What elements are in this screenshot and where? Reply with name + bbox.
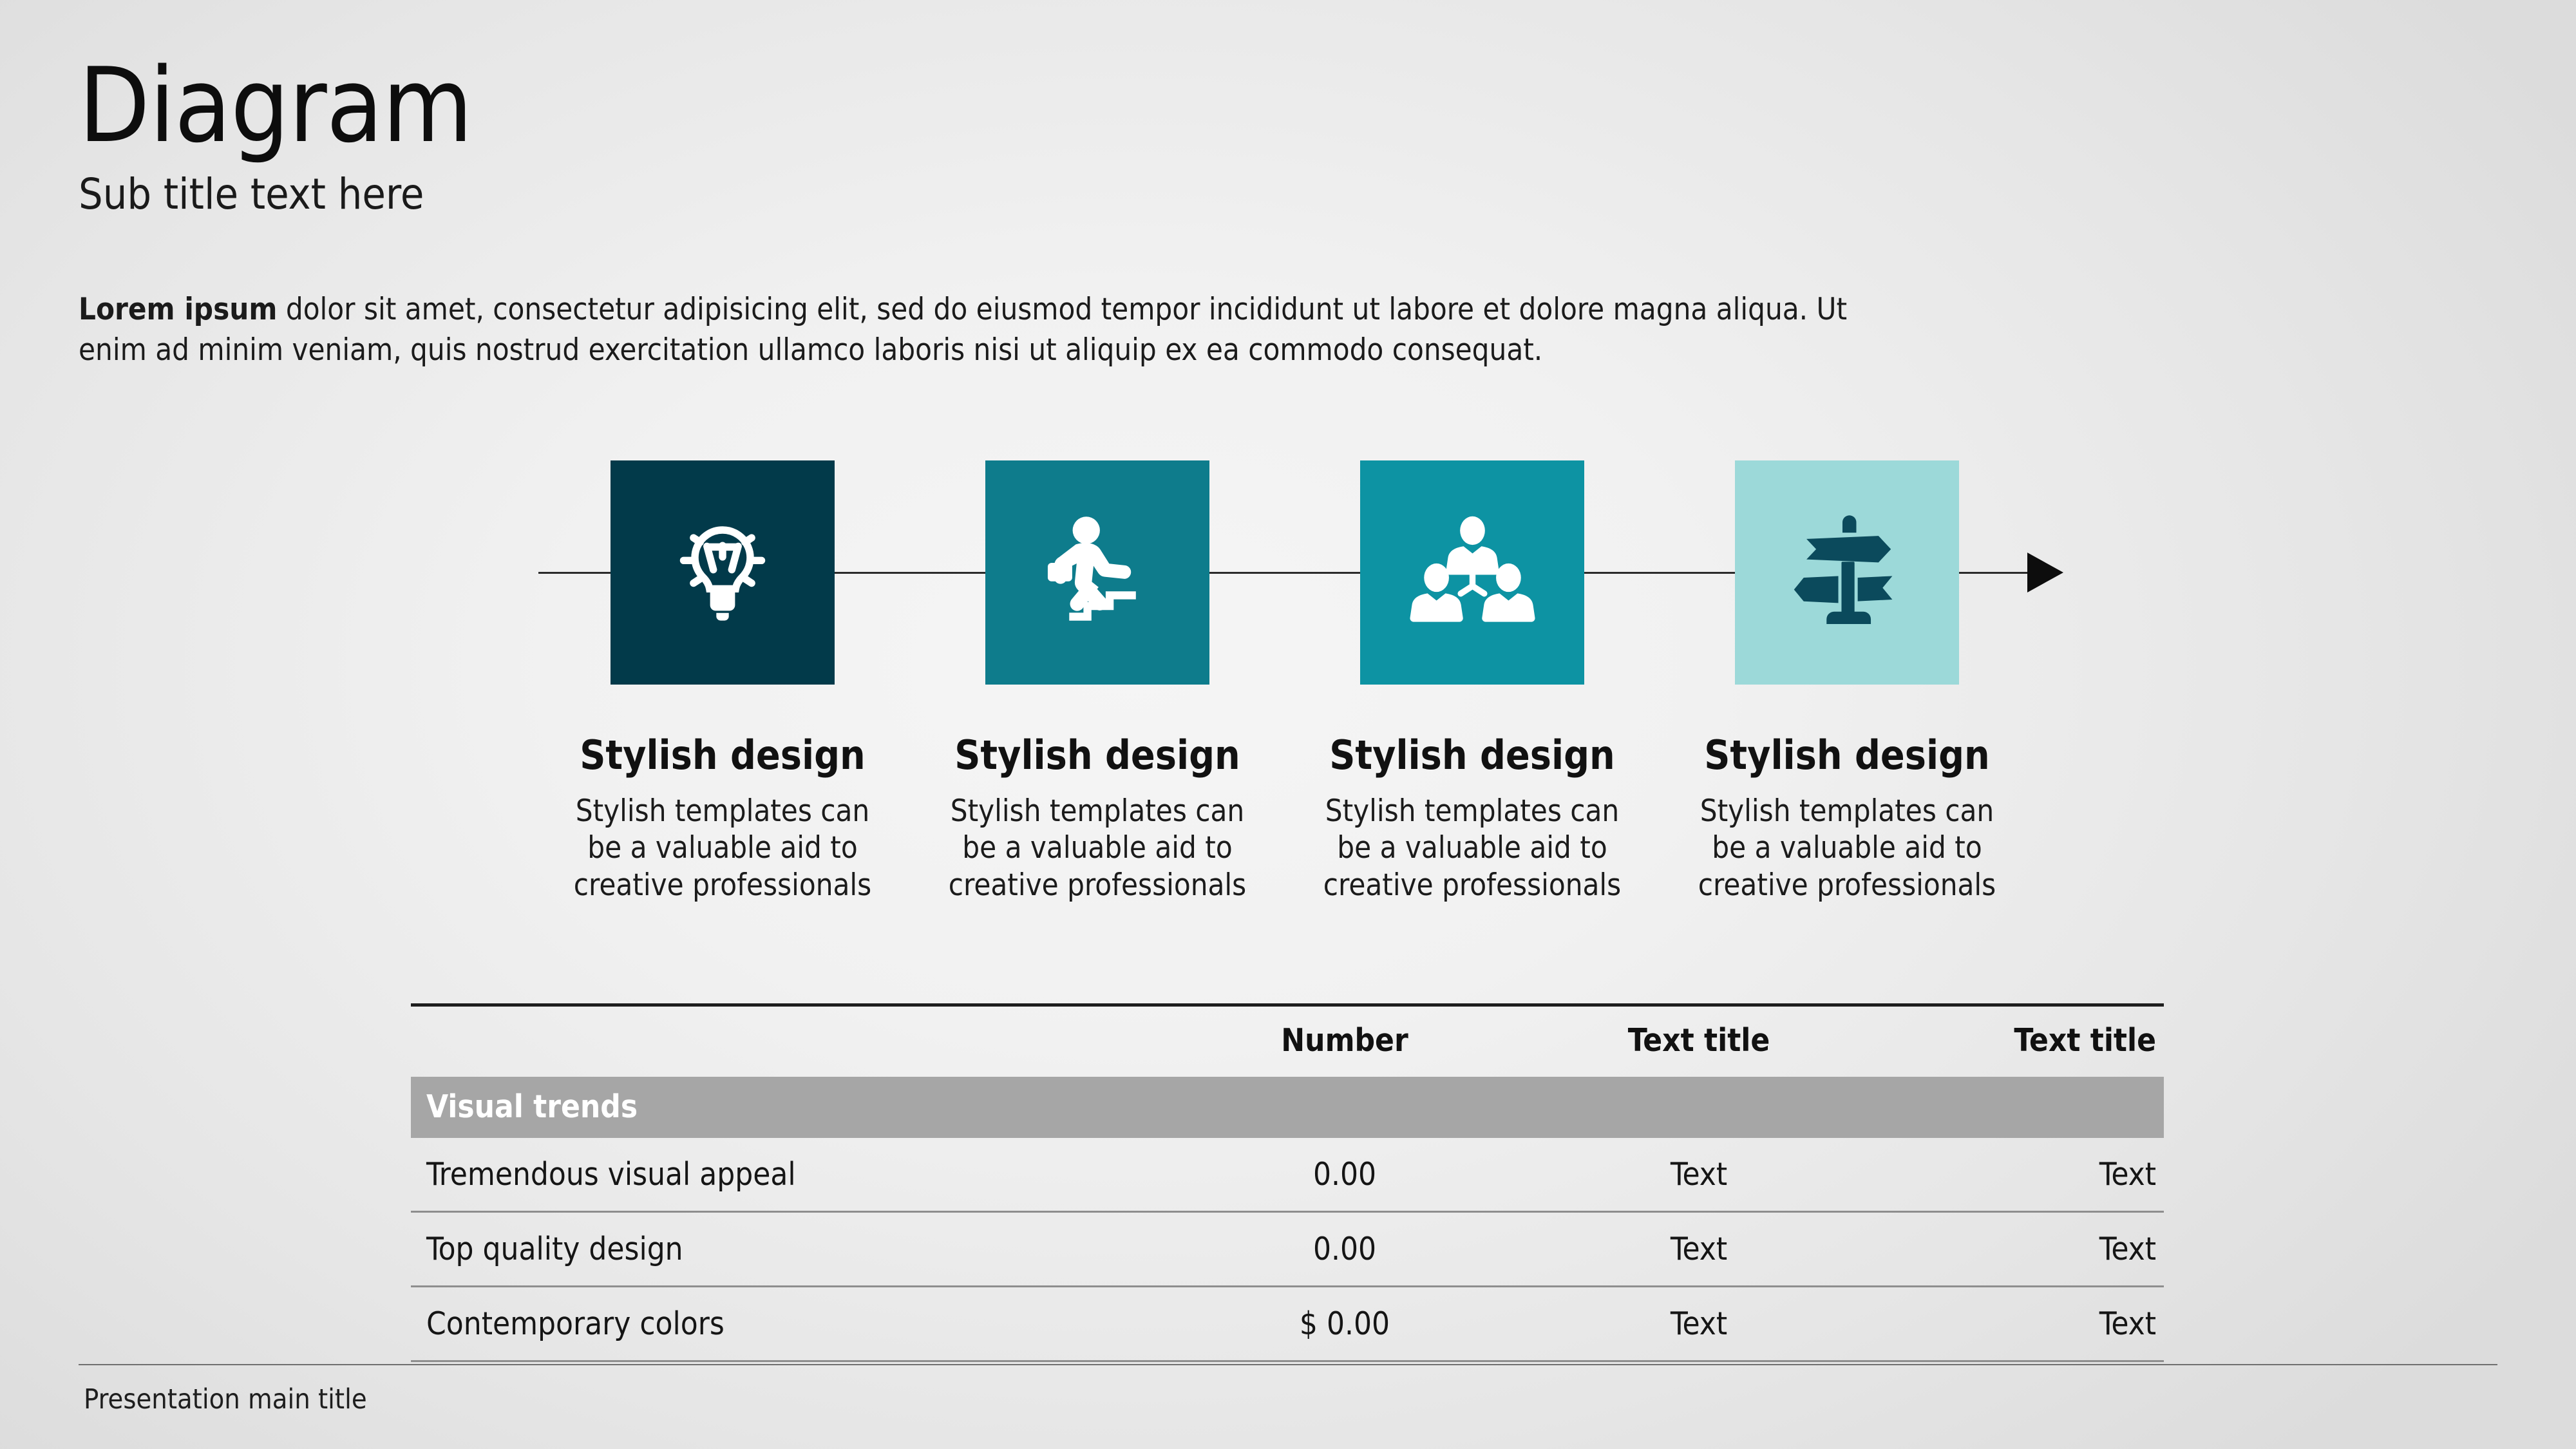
table-row: Tremendous visual appeal 0.00 Text Text: [411, 1138, 2164, 1212]
cell-number: 0.00: [1151, 1212, 1538, 1287]
cell-text2: Text: [1860, 1287, 2164, 1361]
intro-lead-in: Lorem ipsum: [79, 292, 277, 327]
team-hierarchy-icon: [1403, 504, 1542, 642]
cell-text1: Text: [1538, 1138, 1860, 1212]
slide-header: Diagram Sub title text here: [79, 53, 2011, 216]
caption-text: Stylish templates can be a valuable aid …: [1686, 793, 2008, 904]
caption-1: Stylish design Stylish templates can be …: [562, 734, 884, 904]
intro-paragraph: Lorem ipsum dolor sit amet, consectetur …: [79, 290, 1856, 371]
page-title: Diagram: [79, 53, 2011, 158]
table-header-row: Number Text title Text title: [411, 1005, 2164, 1077]
section-label: Visual trends: [411, 1077, 2164, 1138]
caption-heading: Stylish design: [562, 734, 884, 776]
table-row: Top quality design 0.00 Text Text: [411, 1212, 2164, 1287]
column-header-text2: Text title: [1860, 1005, 2164, 1077]
cell-number: $ 0.00: [1151, 1287, 1538, 1361]
cell-number: 0.00: [1151, 1138, 1538, 1212]
timeline-captions: Stylish design Stylish templates can be …: [0, 734, 2576, 972]
cell-label: Contemporary colors: [411, 1287, 1151, 1361]
table-row: Contemporary colors $ 0.00 Text Text: [411, 1287, 2164, 1361]
caption-3: Stylish design Stylish templates can be …: [1311, 734, 1633, 904]
arrow-right-icon: [2027, 553, 2063, 592]
intro-body: dolor sit amet, consectetur adipisicing …: [79, 292, 1847, 368]
lightbulb-icon: [652, 502, 793, 643]
page-subtitle: Sub title text here: [79, 172, 2011, 216]
data-table: Number Text title Text title Visual tren…: [411, 1003, 2164, 1362]
caption-2: Stylish design Stylish templates can be …: [936, 734, 1258, 904]
timeline-tile-4[interactable]: [1735, 460, 1959, 685]
column-header-label: [411, 1005, 1151, 1077]
cell-label: Tremendous visual appeal: [411, 1138, 1151, 1212]
column-header-number: Number: [1151, 1005, 1538, 1077]
caption-text: Stylish templates can be a valuable aid …: [562, 793, 884, 904]
cell-label: Top quality design: [411, 1212, 1151, 1287]
table-body: Visual trends Tremendous visual appeal 0…: [411, 1077, 2164, 1361]
table-section-row: Visual trends: [411, 1077, 2164, 1138]
caption-heading: Stylish design: [1686, 734, 2008, 776]
caption-4: Stylish design Stylish templates can be …: [1686, 734, 2008, 904]
timeline-tile-2[interactable]: [985, 460, 1209, 685]
caption-heading: Stylish design: [936, 734, 1258, 776]
timeline-tile-3[interactable]: [1360, 460, 1584, 685]
cell-text1: Text: [1538, 1287, 1860, 1361]
timeline: [0, 444, 2576, 715]
person-climbing-stairs-icon: [1023, 498, 1171, 647]
slide-canvas: Diagram Sub title text here Lorem ipsum …: [0, 0, 2576, 1449]
footer-title: Presentation main title: [84, 1383, 367, 1416]
footer-divider: [79, 1364, 2497, 1365]
table-header: Number Text title Text title: [411, 1005, 2164, 1077]
caption-heading: Stylish design: [1311, 734, 1633, 776]
caption-text: Stylish templates can be a valuable aid …: [1311, 793, 1633, 904]
cell-text2: Text: [1860, 1138, 2164, 1212]
cell-text1: Text: [1538, 1212, 1860, 1287]
signpost-icon: [1778, 504, 1917, 642]
cell-text2: Text: [1860, 1212, 2164, 1287]
column-header-text1: Text title: [1538, 1005, 1860, 1077]
timeline-tile-1[interactable]: [611, 460, 835, 685]
caption-text: Stylish templates can be a valuable aid …: [936, 793, 1258, 904]
